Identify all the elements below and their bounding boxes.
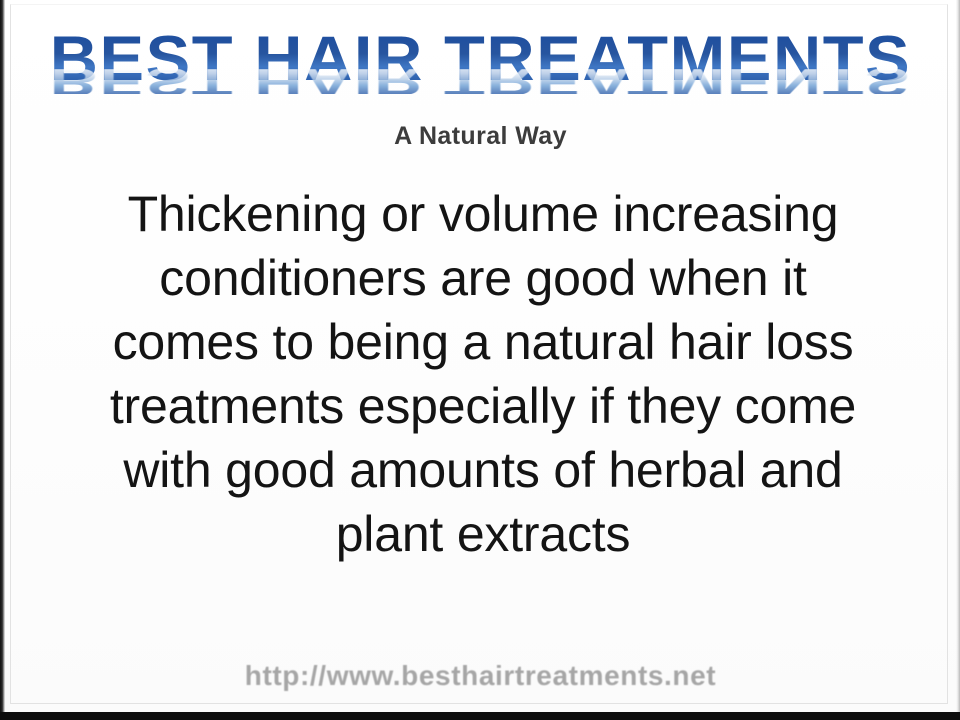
slide-canvas: BEST HAIR TREATMENTS BEST HAIR TREATMENT… <box>5 0 956 712</box>
frame-edge-left <box>0 0 5 720</box>
frame-edge-bottom <box>0 712 960 720</box>
site-logo: BEST HAIR TREATMENTS BEST HAIR TREATMENT… <box>5 26 956 134</box>
paragraph-line: conditioners are good when it <box>53 246 913 310</box>
frame-edge-right <box>956 0 960 720</box>
logo-reflection: BEST HAIR TREATMENTS <box>0 69 960 94</box>
logo-subtitle: A Natural Way <box>5 122 956 151</box>
paragraph-line: comes to being a natural hair loss <box>53 310 913 374</box>
paragraph-line: Thickening or volume increasing <box>53 182 913 246</box>
paragraph-line: plant extracts <box>53 502 913 566</box>
paragraph-line: treatments especially if they come <box>53 374 913 438</box>
video-slide: BEST HAIR TREATMENTS BEST HAIR TREATMENT… <box>0 0 960 720</box>
footer-website-url: http://www.besthairtreatments.net <box>5 660 956 692</box>
slide-paragraph: Thickening or volume increasing conditio… <box>53 182 913 566</box>
paragraph-line: with good amounts of herbal and <box>53 438 913 502</box>
